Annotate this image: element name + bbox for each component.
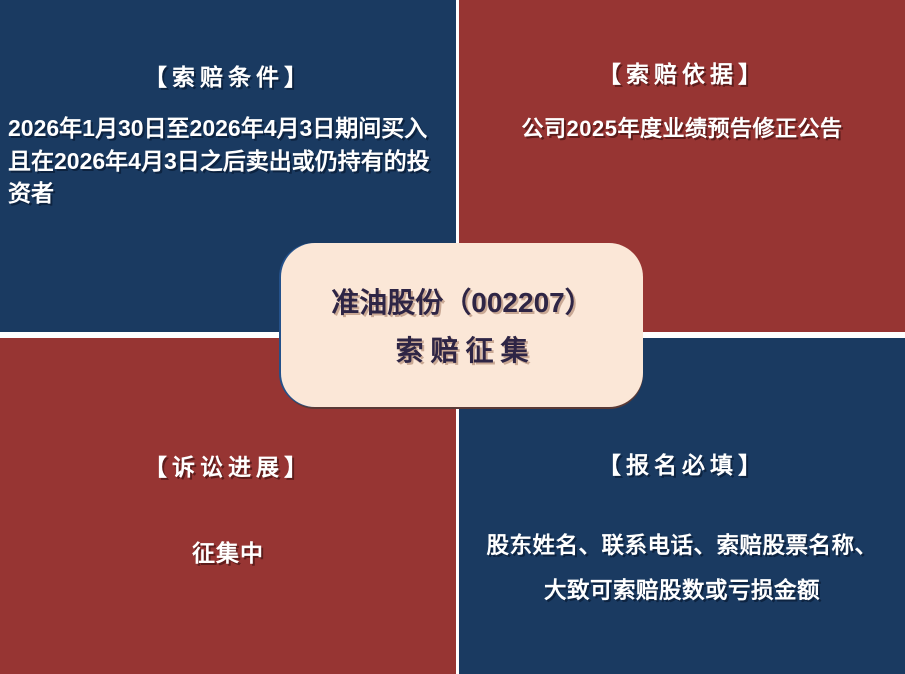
registration-required-body: 股东姓名、联系电话、索赔股票名称、 大致可索赔股数或亏损金额 [459,523,905,613]
registration-required-heading: 【报名必填】 [459,446,905,480]
badge-subtitle-claim-collection: 索赔征集 [388,329,535,369]
claim-poster: 【索赔条件】 2026年1月30日至2026年4月3日期间买入且在2026年4月… [0,0,905,674]
claim-basis-body: 公司2025年度业绩预告修正公告 [459,113,905,144]
claim-basis-heading: 【索赔依据】 [459,55,905,89]
litigation-progress-heading: 【诉讼进展】 [0,448,456,482]
badge-stock-name-and-code: 准油股份（002207） [331,281,592,321]
claim-conditions-heading: 【索赔条件】 [0,58,456,92]
registration-required-line-2: 大致可索赔股数或亏损金额 [459,568,905,613]
registration-required-line-1: 股东姓名、联系电话、索赔股票名称、 [459,523,905,568]
claim-conditions-body: 2026年1月30日至2026年4月3日期间买入且在2026年4月3日之后卖出或… [8,112,440,210]
litigation-progress-status: 征集中 [0,537,456,570]
center-title-badge: 准油股份（002207） 索赔征集 [281,243,643,407]
